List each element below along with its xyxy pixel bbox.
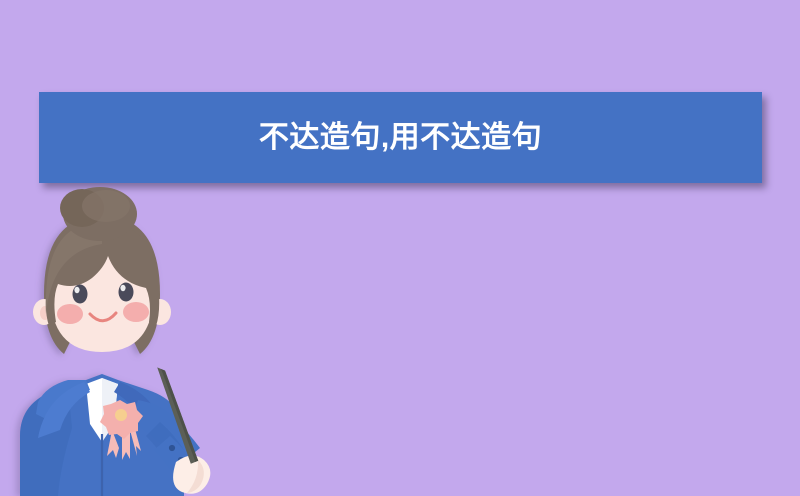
eye-left — [73, 285, 88, 304]
eye-right-highlight — [120, 285, 125, 291]
badge-center — [115, 409, 127, 421]
blush-left — [57, 304, 83, 324]
eye-left-highlight — [74, 287, 79, 293]
page-root: 不达造句,用不达造句 — [0, 0, 800, 496]
title-banner: 不达造句,用不达造句 — [39, 92, 762, 183]
cuff-button-1 — [169, 445, 175, 451]
teacher-illustration-svg — [0, 186, 300, 496]
teacher-illustration — [0, 186, 300, 496]
hair-bun-highlight — [82, 190, 130, 222]
page-title: 不达造句,用不达造句 — [259, 123, 542, 153]
eye-right — [119, 283, 134, 302]
blush-right — [123, 302, 149, 322]
